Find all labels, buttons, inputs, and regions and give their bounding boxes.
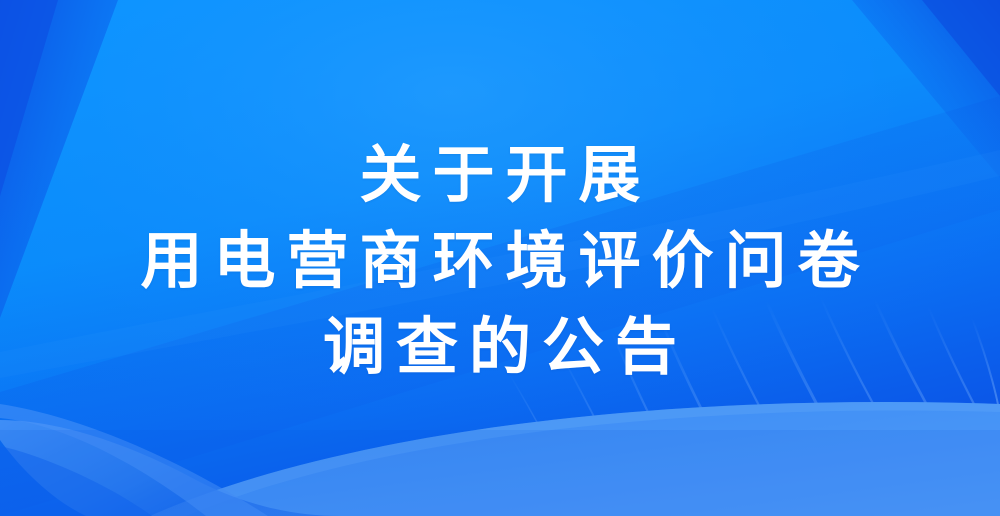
title-line-3: 调查的公告 bbox=[312, 304, 688, 390]
announcement-banner: 关于开展 用电营商环境评价问卷 调查的公告 bbox=[0, 0, 1000, 516]
banner-title: 关于开展 用电营商环境评价问卷 调查的公告 bbox=[0, 0, 1000, 516]
title-line-2: 用电营商环境评价问卷 bbox=[129, 218, 870, 304]
title-line-1: 关于开展 bbox=[348, 132, 651, 218]
